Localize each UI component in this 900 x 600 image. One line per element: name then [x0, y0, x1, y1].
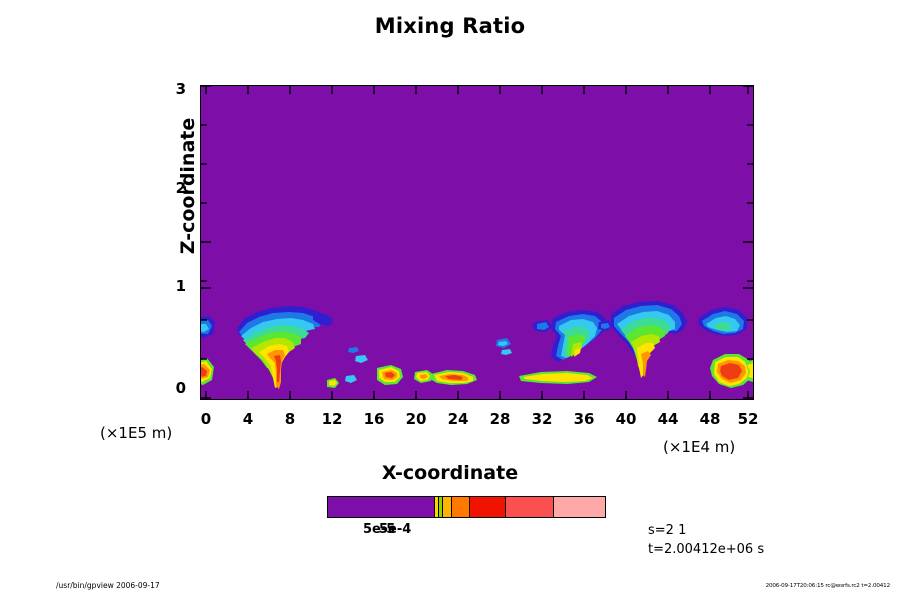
annotation-slice: s=2 1 — [648, 521, 764, 540]
mixing-ratio-field — [201, 86, 753, 399]
colorbar-band-7 — [554, 497, 605, 517]
x-tick-label: 48 — [693, 412, 727, 427]
footer-command: /usr/bin/gpview 2006-09-17 — [56, 581, 160, 590]
x-tick-label: 0 — [189, 412, 223, 427]
plot-annotations: s=2 1 t=2.00412e+06 s — [648, 521, 764, 559]
x-tick-label: 52 — [731, 412, 765, 427]
x-tick-label: 32 — [525, 412, 559, 427]
x-tick-label: 4 — [231, 412, 265, 427]
x-tick-label: 40 — [609, 412, 643, 427]
x-axis-title: X-coordinate — [0, 462, 900, 484]
x-tick-label: 8 — [273, 412, 307, 427]
x-tick-label: 12 — [315, 412, 349, 427]
y-tick-label: 3 — [152, 82, 186, 97]
colorbar-band-6 — [506, 497, 555, 517]
colorbar-band-3 — [443, 497, 452, 517]
y-tick-label: 2 — [152, 181, 186, 196]
x-tick-label: 16 — [357, 412, 391, 427]
y-tick-label: 1 — [152, 279, 186, 294]
y-axis-unit: (×1E5 m) — [100, 424, 172, 442]
x-tick-label: 44 — [651, 412, 685, 427]
footer-provenance: 2006-09-17T20:06:15 rc@wsrfs.rc2 t=2.004… — [766, 583, 890, 589]
annotation-time: t=2.00412e+06 s — [648, 540, 764, 559]
colorbar-tick-label-1: 5e-4 — [379, 522, 411, 537]
colorbar-band-5 — [470, 497, 506, 517]
y-tick-label: 0 — [152, 381, 186, 396]
colorbar-band-0 — [328, 497, 435, 517]
colorbar-band-4 — [452, 497, 470, 517]
contour-plot-area — [200, 85, 754, 400]
x-tick-label: 24 — [441, 412, 475, 427]
figure-canvas: Mixing Ratio Z-coordinate 0 1 2 3 — [0, 0, 900, 600]
colorbar: 5e-55e-4 — [327, 496, 606, 518]
page-title: Mixing Ratio — [0, 14, 900, 38]
x-tick-label: 28 — [483, 412, 517, 427]
x-tick-label: 20 — [399, 412, 433, 427]
x-axis-unit: (×1E4 m) — [663, 438, 735, 456]
colorbar-bands — [327, 496, 606, 518]
x-tick-label: 36 — [567, 412, 601, 427]
